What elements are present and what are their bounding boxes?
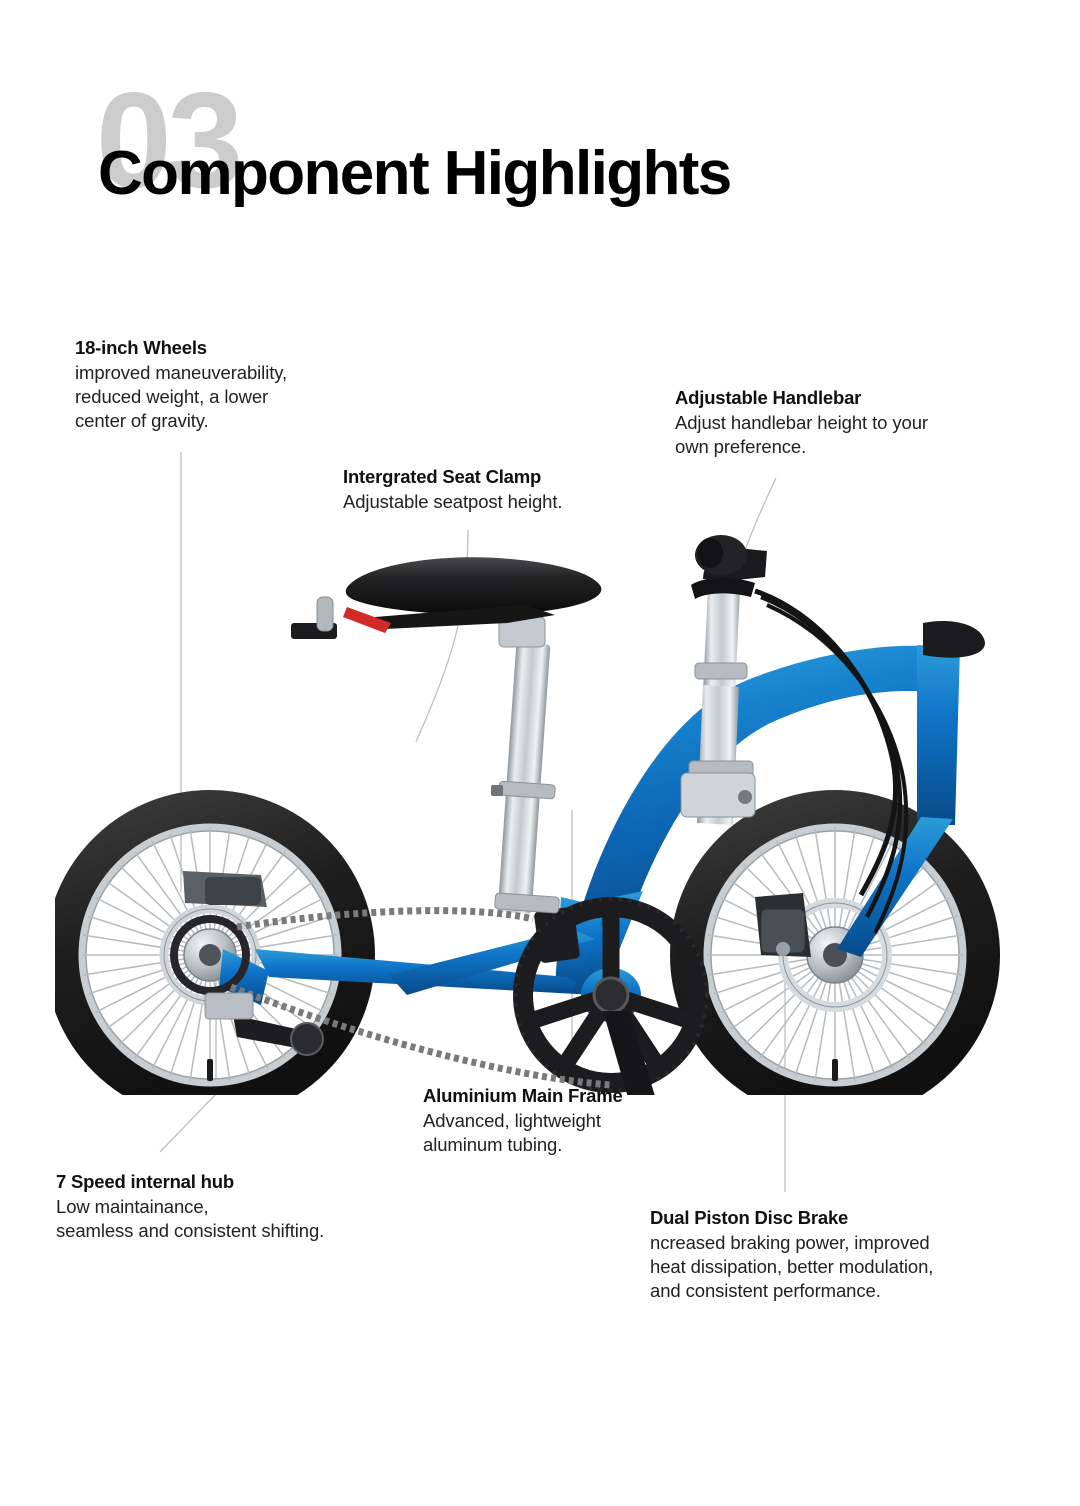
- bicycle-svg: [55, 525, 1025, 1095]
- callout-18-inch-wheels: 18-inch Wheels improved maneuverability,…: [75, 336, 287, 433]
- callout-aluminium-main-frame: Aluminium Main Frame Advanced, lightweig…: [423, 1084, 623, 1157]
- callout-title: 7 Speed internal hub: [56, 1170, 324, 1194]
- saddle: [346, 557, 602, 614]
- rear-hub-core: [199, 944, 221, 966]
- callout-7-speed-internal-hub: 7 Speed internal hub Low maintainance, s…: [56, 1170, 324, 1243]
- rear-valve-stem: [207, 1059, 213, 1081]
- callout-body: Low maintainance, seamless and consisten…: [56, 1195, 324, 1243]
- crank-spindle: [594, 978, 628, 1012]
- latch-bolt: [738, 790, 752, 804]
- front-valve-stem: [832, 1059, 838, 1081]
- seatpost-tube: [498, 642, 551, 914]
- tensioner-pulley: [291, 1023, 323, 1055]
- callout-body: Adjustable seatpost height.: [343, 490, 562, 514]
- callout-dual-piston-disc-brake: Dual Piston Disc Brake ncreased braking …: [650, 1206, 933, 1303]
- callout-title: Aluminium Main Frame: [423, 1084, 623, 1108]
- callout-title: 18-inch Wheels: [75, 336, 287, 360]
- callout-body: Advanced, lightweight aluminum tubing.: [423, 1109, 623, 1157]
- page-title: Component Highlights: [98, 143, 731, 205]
- rear-caliper-body: [205, 877, 261, 905]
- front-wheel: [688, 808, 982, 1095]
- poster-page: 03 Component Highlights: [0, 0, 1080, 1506]
- bicycle-illustration: [55, 525, 1025, 1095]
- callout-title: Adjustable Handlebar: [675, 386, 928, 410]
- title-block: 03 Component Highlights: [0, 0, 1080, 240]
- callout-adjustable-handlebar: Adjustable Handlebar Adjust handlebar he…: [675, 386, 928, 459]
- callout-integrated-seat-clamp: Intergrated Seat Clamp Adjustable seatpo…: [343, 465, 562, 514]
- head-tube-cap: [923, 621, 985, 658]
- front-caliper-bolt: [776, 942, 790, 956]
- frame-head-tube: [917, 645, 960, 825]
- callout-body: improved maneuverability, reduced weight…: [75, 361, 287, 433]
- saddle-rear-post: [317, 597, 333, 631]
- callout-title: Intergrated Seat Clamp: [343, 465, 562, 489]
- callout-title: Dual Piston Disc Brake: [650, 1206, 933, 1230]
- handlepost-clamp-upper: [695, 663, 747, 679]
- tensioner-bracket: [205, 993, 253, 1019]
- callout-body: Adjust handlebar height to your own pref…: [675, 411, 928, 459]
- callout-body: ncreased braking power, improved heat di…: [650, 1231, 933, 1303]
- handlebar-grip-end: [697, 538, 723, 568]
- chain-upper: [237, 911, 533, 927]
- seatpost-clamp-bolt: [491, 785, 503, 796]
